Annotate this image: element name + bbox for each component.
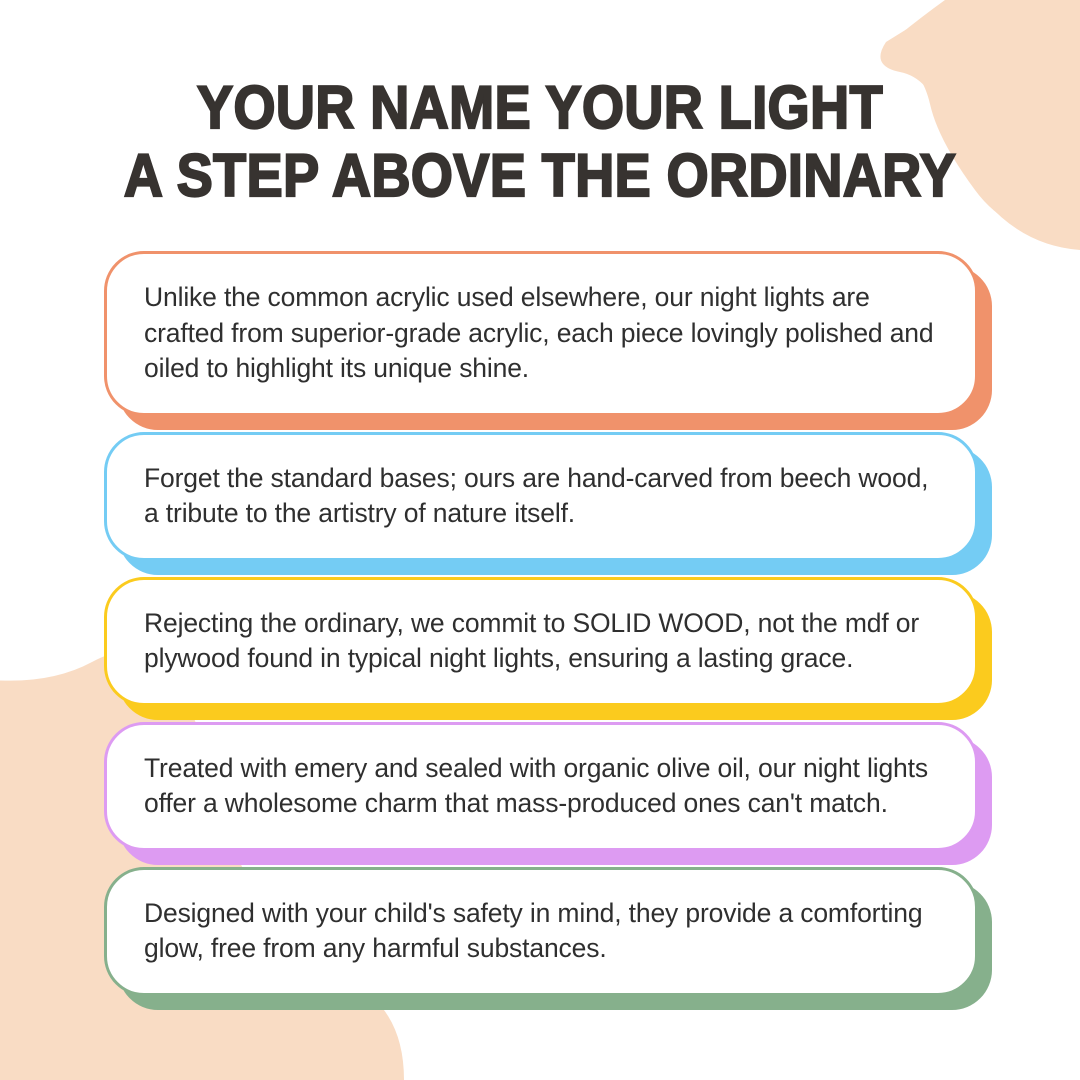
feature-card-solid-wood: Rejecting the ordinary, we commit to SOL…	[104, 577, 978, 706]
feature-card-child-safety: Designed with your child's safety in min…	[104, 867, 978, 996]
page-title-line-2: A STEP ABOVE THE ORDINARY	[54, 142, 1026, 210]
feature-card-list: Unlike the common acrylic used elsewhere…	[0, 251, 1080, 996]
feature-card-olive-oil: Treated with emery and sealed with organ…	[104, 722, 978, 851]
card-body: Unlike the common acrylic used elsewhere…	[104, 251, 978, 416]
page-title: YOUR NAME YOUR LIGHT A STEP ABOVE THE OR…	[0, 74, 1080, 210]
card-text: Unlike the common acrylic used elsewhere…	[144, 280, 941, 387]
page-title-line-1: YOUR NAME YOUR LIGHT	[54, 74, 1026, 142]
card-text: Rejecting the ordinary, we commit to SOL…	[144, 606, 941, 677]
card-body: Treated with emery and sealed with organ…	[104, 722, 978, 851]
card-body: Forget the standard bases; ours are hand…	[104, 432, 978, 561]
poster-canvas: YOUR NAME YOUR LIGHT A STEP ABOVE THE OR…	[0, 0, 1080, 1080]
card-body: Rejecting the ordinary, we commit to SOL…	[104, 577, 978, 706]
feature-card-acrylic: Unlike the common acrylic used elsewhere…	[104, 251, 978, 416]
card-text: Designed with your child's safety in min…	[144, 896, 941, 967]
feature-card-beech-wood: Forget the standard bases; ours are hand…	[104, 432, 978, 561]
card-body: Designed with your child's safety in min…	[104, 867, 978, 996]
card-text: Forget the standard bases; ours are hand…	[144, 461, 941, 532]
card-text: Treated with emery and sealed with organ…	[144, 751, 941, 822]
